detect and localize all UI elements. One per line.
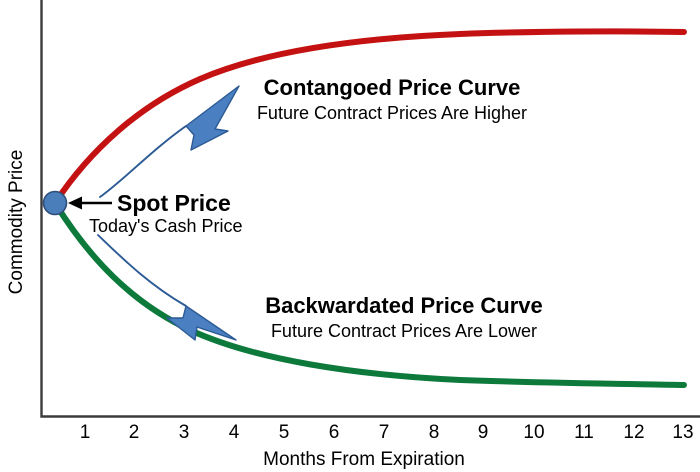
x-tick-5: 5 (279, 422, 290, 443)
contango-callout-title: Contangoed Price Curve (264, 75, 521, 100)
x-tick-11: 11 (574, 422, 594, 443)
x-tick-4: 4 (229, 422, 240, 443)
spot-price-pointer-icon (68, 197, 112, 210)
backwardation-annotation-arrow (98, 235, 236, 340)
spot-price-callout: Spot Price Today's Cash Price (89, 190, 243, 236)
spot-price-marker (44, 192, 67, 215)
x-tick-9: 9 (478, 422, 489, 443)
backwardation-callout-title: Backwardated Price Curve (265, 293, 543, 318)
x-tick-8: 8 (429, 422, 440, 443)
x-tick-7: 7 (379, 422, 390, 443)
x-tick-labels: 1 2 3 4 5 6 7 8 9 10 11 12 13 (80, 422, 694, 443)
contango-callout-subtitle: Future Contract Prices Are Higher (257, 103, 527, 123)
chart-container: 1 2 3 4 5 6 7 8 9 10 11 12 13 Months Fro… (0, 0, 700, 472)
x-axis-title: Months From Expiration (263, 449, 465, 470)
backwardation-callout: Backwardated Price Curve Future Contract… (265, 293, 543, 341)
x-tick-13: 13 (672, 422, 693, 443)
chart-svg: 1 2 3 4 5 6 7 8 9 10 11 12 13 Months Fro… (0, 0, 700, 472)
x-tick-6: 6 (329, 422, 340, 443)
backwardation-callout-subtitle: Future Contract Prices Are Lower (271, 321, 537, 341)
x-tick-1: 1 (80, 422, 91, 443)
x-tick-3: 3 (179, 422, 190, 443)
x-tick-10: 10 (523, 422, 544, 443)
x-tick-12: 12 (623, 422, 644, 443)
x-tick-2: 2 (129, 422, 140, 443)
contango-callout: Contangoed Price Curve Future Contract P… (257, 75, 527, 123)
contango-arrow-head (186, 86, 239, 150)
spot-price-subtitle: Today's Cash Price (89, 216, 243, 236)
spot-price-title: Spot Price (117, 190, 231, 216)
y-axis-title: Commodity Price (6, 150, 27, 295)
contango-annotation-arrow (100, 86, 239, 197)
